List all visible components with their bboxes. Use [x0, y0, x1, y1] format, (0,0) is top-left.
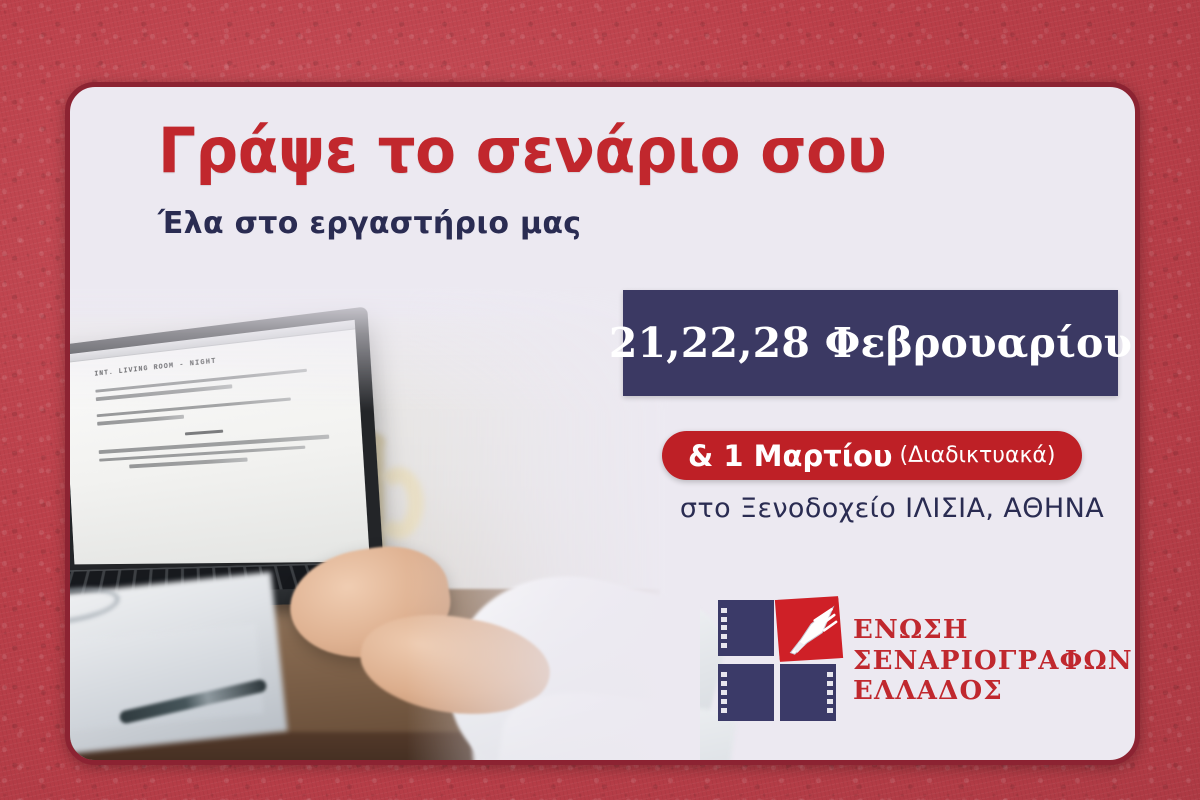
- film-frame: [718, 600, 774, 656]
- primary-date-text: 21,22,28 Φεβρουαρίου: [609, 319, 1132, 367]
- primary-date-badge: 21,22,28 Φεβρουαρίου: [623, 290, 1118, 396]
- venue-text: στο Ξενοδοχείο ΙΛΙΣΙΑ, ΑΘΗΝΑ: [662, 493, 1122, 524]
- page-title: Γράψε το σενάριο σου: [158, 120, 886, 182]
- laptop-lid: INT. LIVING ROOM - NIGHT: [65, 306, 384, 577]
- logo-line-1: ΕΝΩΣΗ: [853, 615, 1133, 645]
- organization-logo: ΕΝΩΣΗ ΣΕΝΑΡΙΟΓΡΑΦΩΝ ΕΛΛΑΔΟΣ: [718, 600, 1133, 722]
- page-subtitle: Έλα στο εργαστήριο μας: [158, 209, 581, 239]
- secondary-date-badge: & 1 Μαρτίου (Διαδικτυακά): [662, 431, 1082, 480]
- screenplay-text-line: [129, 458, 247, 468]
- pen-nib-icon: [779, 605, 842, 658]
- secondary-date-note: (Διαδικτυακά): [900, 443, 1056, 468]
- organization-name: ΕΝΩΣΗ ΣΕΝΑΡΙΟΓΡΑΦΩΝ ΕΛΛΑΔΟΣ: [853, 615, 1133, 706]
- film-frame: [718, 664, 774, 721]
- logo-line-2: ΣΕΝΑΡΙΟΓΡΑΦΩΝ: [853, 646, 1133, 676]
- film-frame: [780, 664, 836, 721]
- poster-card: INT. LIVING ROOM - NIGHT: [65, 82, 1140, 765]
- secondary-date-text: & 1 Μαρτίου: [688, 439, 893, 473]
- film-strip-pen-icon: [718, 600, 836, 722]
- poster-card-inner: INT. LIVING ROOM - NIGHT: [70, 87, 1135, 760]
- laptop-screen: INT. LIVING ROOM - NIGHT: [65, 320, 370, 565]
- desk-photo: INT. LIVING ROOM - NIGHT: [65, 317, 660, 765]
- logo-line-3: ΕΛΛΑΔΟΣ: [853, 676, 1133, 706]
